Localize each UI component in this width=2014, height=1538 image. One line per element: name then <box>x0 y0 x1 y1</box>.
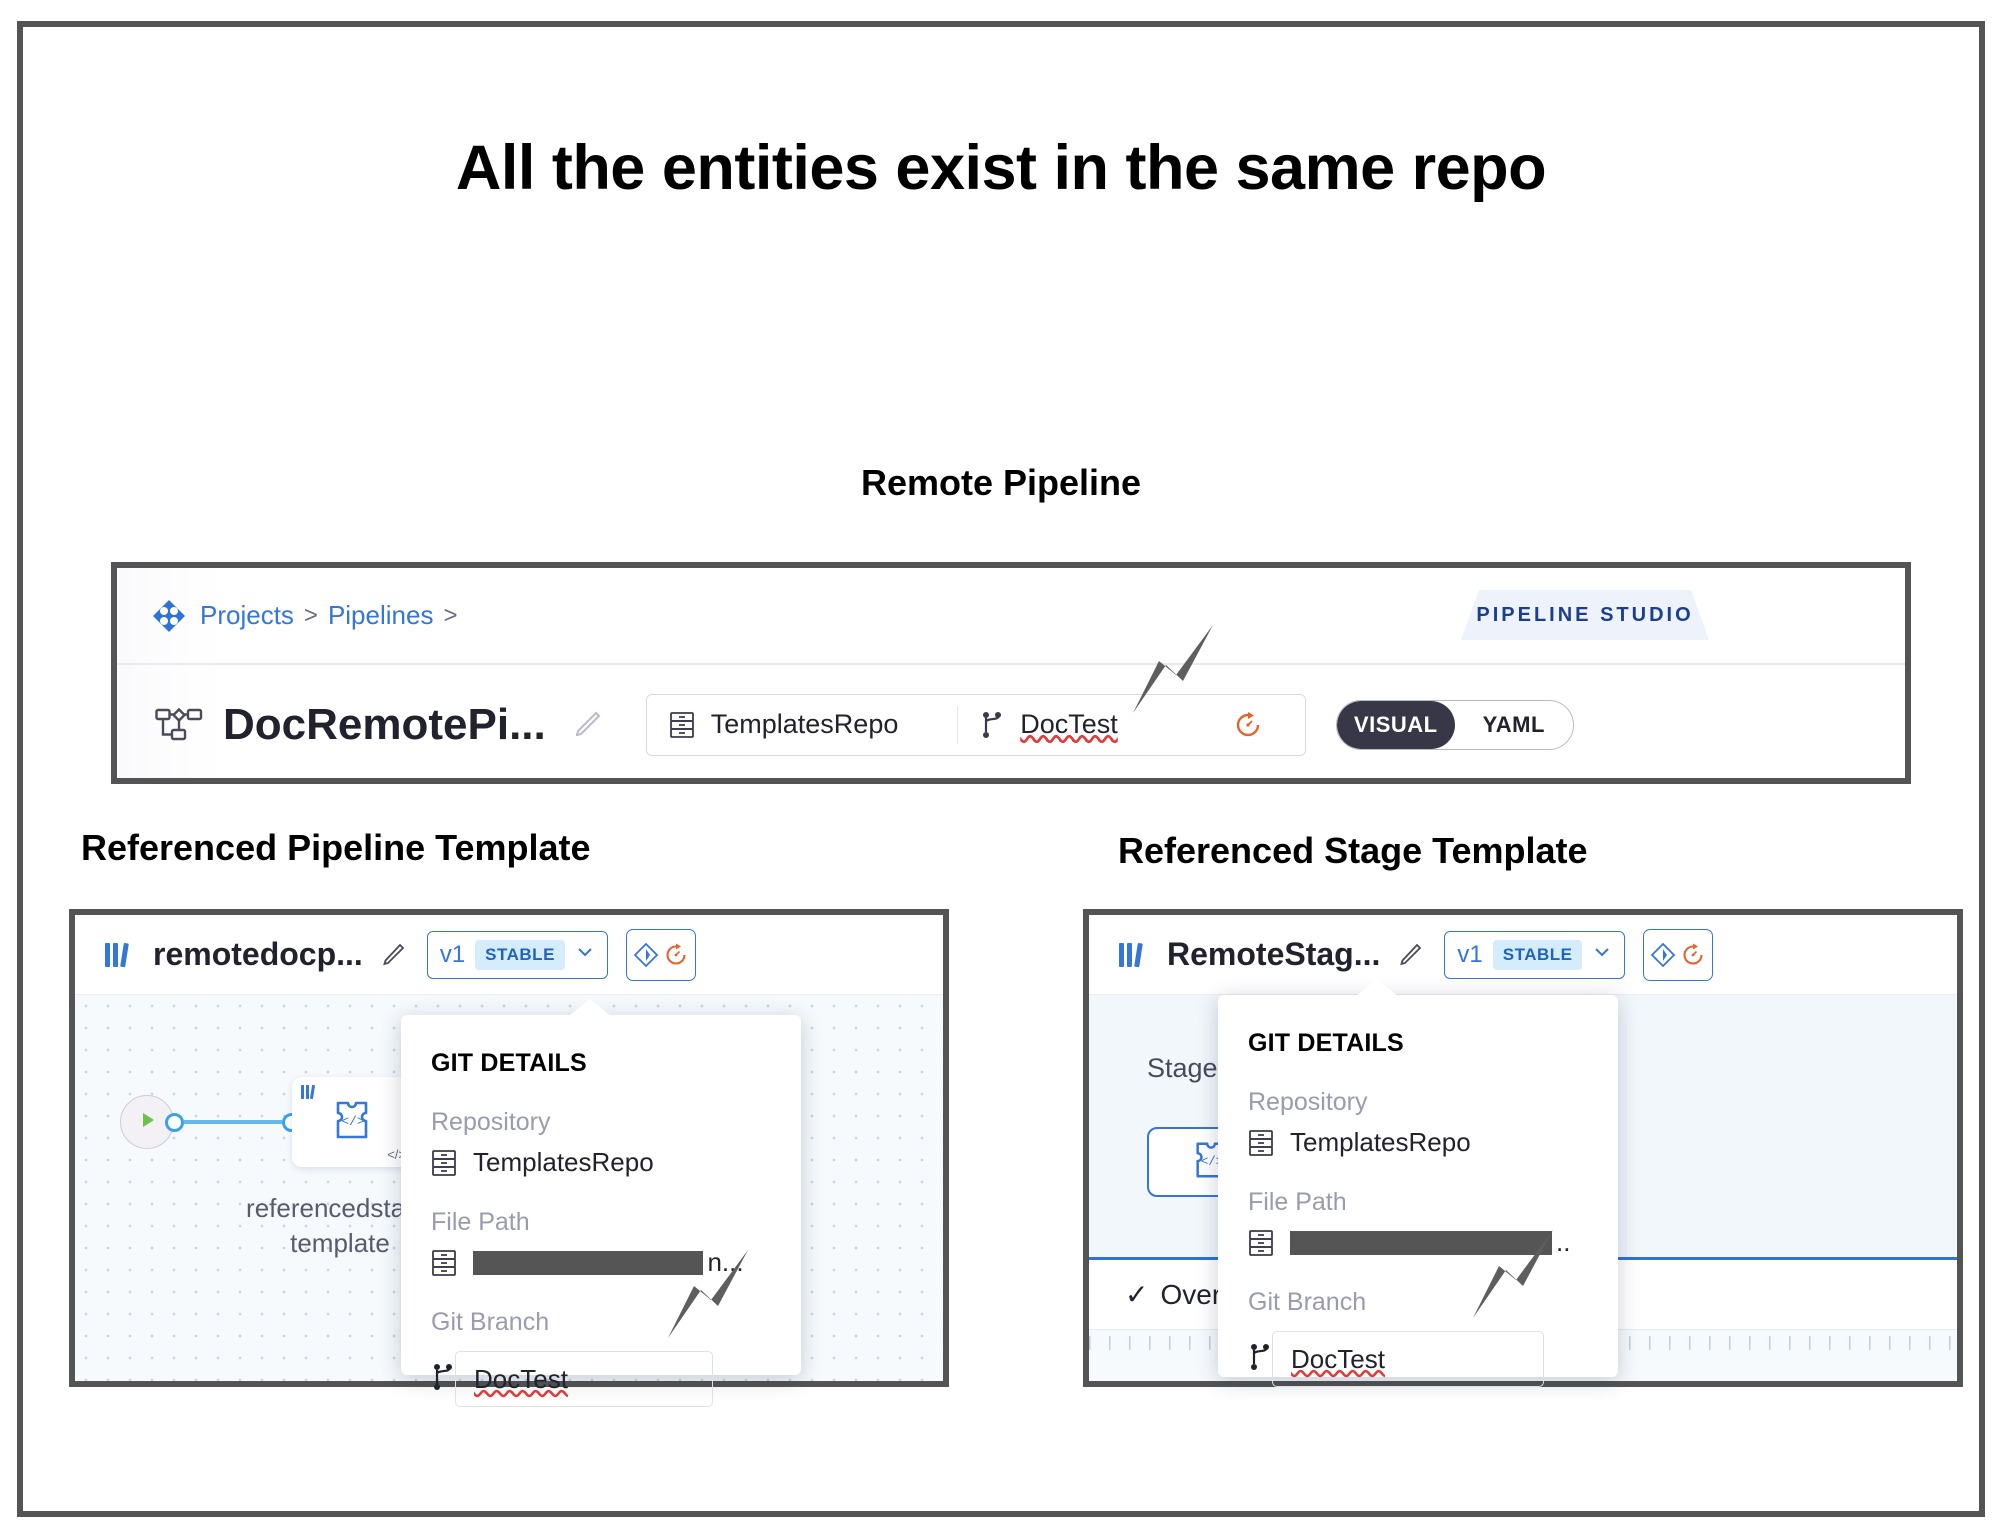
remote-pipeline-screenshot: Projects > Pipelines > PIPELINE STUDIO <box>111 562 1911 784</box>
popover-title: GIT DETAILS <box>401 1015 801 1078</box>
popover-repository-value: TemplatesRepo <box>1290 1127 1471 1158</box>
git-chip-repository-name: TemplatesRepo <box>711 709 899 740</box>
chevron-down-icon[interactable] <box>1592 942 1612 967</box>
breadcrumb-separator-trailing: > <box>443 602 457 630</box>
play-icon <box>136 1109 158 1136</box>
template-header-bar: remotedocp... v1 STABLE <box>75 915 943 995</box>
chevron-down-icon[interactable] <box>575 942 595 967</box>
pencil-icon[interactable] <box>381 943 405 967</box>
git-branch-icon <box>980 710 1004 740</box>
stage-template-header-bar: RemoteStag... v1 STABLE <box>1089 915 1957 995</box>
pencil-icon[interactable] <box>572 710 602 740</box>
git-details-button[interactable] <box>626 929 696 981</box>
view-mode-toggle[interactable]: VISUAL YAML <box>1336 700 1574 750</box>
section-heading-remote-pipeline: Remote Pipeline <box>23 462 1979 504</box>
template-name: remotedocp... <box>153 936 363 973</box>
stage-template-stable-badge: STABLE <box>1493 940 1583 970</box>
reload-icon[interactable] <box>663 942 689 968</box>
pipeline-name: DocRemotePi... <box>223 700 546 750</box>
stage-git-details-button[interactable] <box>1643 929 1713 981</box>
git-icon <box>1650 942 1676 968</box>
section-heading-referenced-stage-template: Referenced Stage Template <box>1118 830 1588 872</box>
git-chip-repository[interactable]: TemplatesRepo <box>647 709 957 740</box>
template-stable-badge: STABLE <box>475 940 565 970</box>
pipeline-stage-node[interactable]: </> </> <box>292 1077 414 1167</box>
stage-template-name: RemoteStag... <box>1167 936 1380 973</box>
template-version-label: v1 <box>440 941 465 969</box>
view-mode-visual[interactable]: VISUAL <box>1337 701 1455 749</box>
view-mode-yaml[interactable]: YAML <box>1455 701 1573 749</box>
pipeline-node-icon <box>155 705 203 745</box>
breadcrumb-link-projects[interactable]: Projects <box>200 600 294 631</box>
custom-stage-icon: </> <box>330 1097 376 1148</box>
repository-icon <box>1248 1128 1274 1158</box>
pipeline-title-bar: DocRemotePi... <box>117 665 1905 784</box>
pencil-icon[interactable] <box>1398 943 1422 967</box>
popover-file-path-label: File Path <box>1218 1158 1618 1217</box>
popover-repository-row: TemplatesRepo <box>401 1137 801 1178</box>
annotation-arrow-pipeline-template-branch <box>598 1242 758 1352</box>
popover-repository-row: TemplatesRepo <box>1218 1117 1618 1158</box>
popover-file-path-label: File Path <box>401 1178 801 1237</box>
annotation-arrow-stage-template-branch <box>1403 1222 1563 1332</box>
repository-icon <box>431 1148 457 1178</box>
git-branch-icon <box>1248 1342 1272 1377</box>
reload-icon[interactable] <box>1680 942 1706 968</box>
popover-git-branch-row: DocTest <box>1248 1331 1618 1387</box>
harness-projects-icon <box>152 599 186 633</box>
stage-template-version-label: v1 <box>1457 941 1482 969</box>
node-port-out-start <box>165 1113 184 1132</box>
stage-template-version-selector[interactable]: v1 STABLE <box>1444 931 1625 979</box>
template-library-icon <box>1117 940 1151 970</box>
breadcrumb-bar: Projects > Pipelines > PIPELINE STUDIO <box>117 568 1905 665</box>
reload-icon[interactable] <box>1233 710 1263 740</box>
git-branch-value: DocTest <box>474 1364 568 1395</box>
template-library-icon <box>103 940 137 970</box>
git-icon <box>633 942 659 968</box>
section-heading-referenced-pipeline-template: Referenced Pipeline Template <box>81 827 591 869</box>
repository-icon <box>431 1248 457 1278</box>
repository-icon <box>1248 1228 1274 1258</box>
breadcrumb-separator: > <box>304 602 318 630</box>
annotation-arrow-remote-pipeline <box>1063 617 1223 727</box>
git-branch-input[interactable]: DocTest <box>455 1351 713 1407</box>
git-branch-icon <box>431 1362 455 1397</box>
git-branch-value: DocTest <box>1291 1344 1385 1375</box>
check-icon: ✓ <box>1125 1278 1148 1311</box>
breadcrumb-link-pipelines[interactable]: Pipelines <box>328 600 434 631</box>
repository-icon <box>669 710 695 740</box>
popover-repository-label: Repository <box>1218 1058 1618 1117</box>
popover-repository-label: Repository <box>401 1078 801 1137</box>
pipeline-studio-badge: PIPELINE STUDIO <box>1461 590 1709 640</box>
pipeline-studio-badge-label: PIPELINE STUDIO <box>1476 604 1693 627</box>
pipeline-wire <box>184 1120 282 1124</box>
template-library-icon <box>300 1083 320 1101</box>
popover-git-branch-row: DocTest <box>431 1351 801 1407</box>
git-branch-input[interactable]: DocTest <box>1272 1331 1544 1387</box>
page-title: All the entities exist in the same repo <box>23 132 1979 204</box>
template-version-selector[interactable]: v1 STABLE <box>427 931 608 979</box>
svg-text:</>: </> <box>341 1114 365 1129</box>
popover-title: GIT DETAILS <box>1218 995 1618 1058</box>
popover-repository-value: TemplatesRepo <box>473 1147 654 1178</box>
poster-frame: All the entities exist in the same repo … <box>17 21 1985 1517</box>
